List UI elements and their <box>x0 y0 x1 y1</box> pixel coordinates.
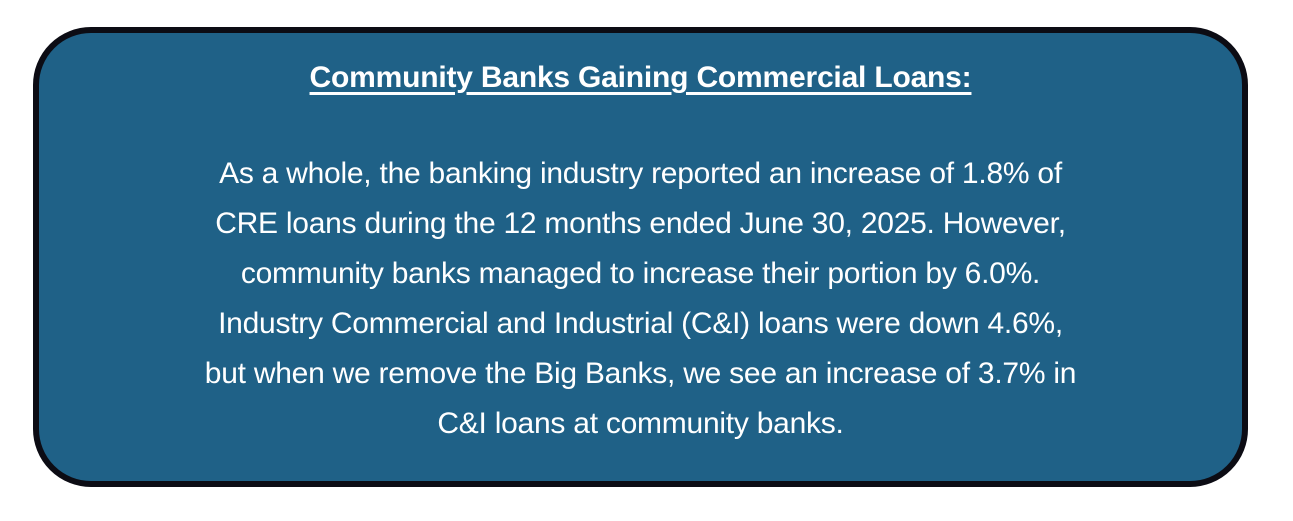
body-line-2: CRE loans during the 12 months ended Jun… <box>63 199 1219 249</box>
body-line-4: Industry Commercial and Industrial (C&I)… <box>63 299 1219 349</box>
body-line-6: C&I loans at community banks. <box>63 399 1219 449</box>
callout-title: Community Banks Gaining Commercial Loans… <box>310 59 972 97</box>
body-line-1: As a whole, the banking industry reporte… <box>63 149 1219 199</box>
body-line-3: community banks managed to increase thei… <box>63 249 1219 299</box>
callout-body: As a whole, the banking industry reporte… <box>63 149 1219 449</box>
slide-canvas: Community Banks Gaining Commercial Loans… <box>0 0 1293 521</box>
body-line-5: but when we remove the Big Banks, we see… <box>63 349 1219 399</box>
callout-content: Community Banks Gaining Commercial Loans… <box>39 33 1242 481</box>
callout-box: Community Banks Gaining Commercial Loans… <box>33 27 1248 487</box>
